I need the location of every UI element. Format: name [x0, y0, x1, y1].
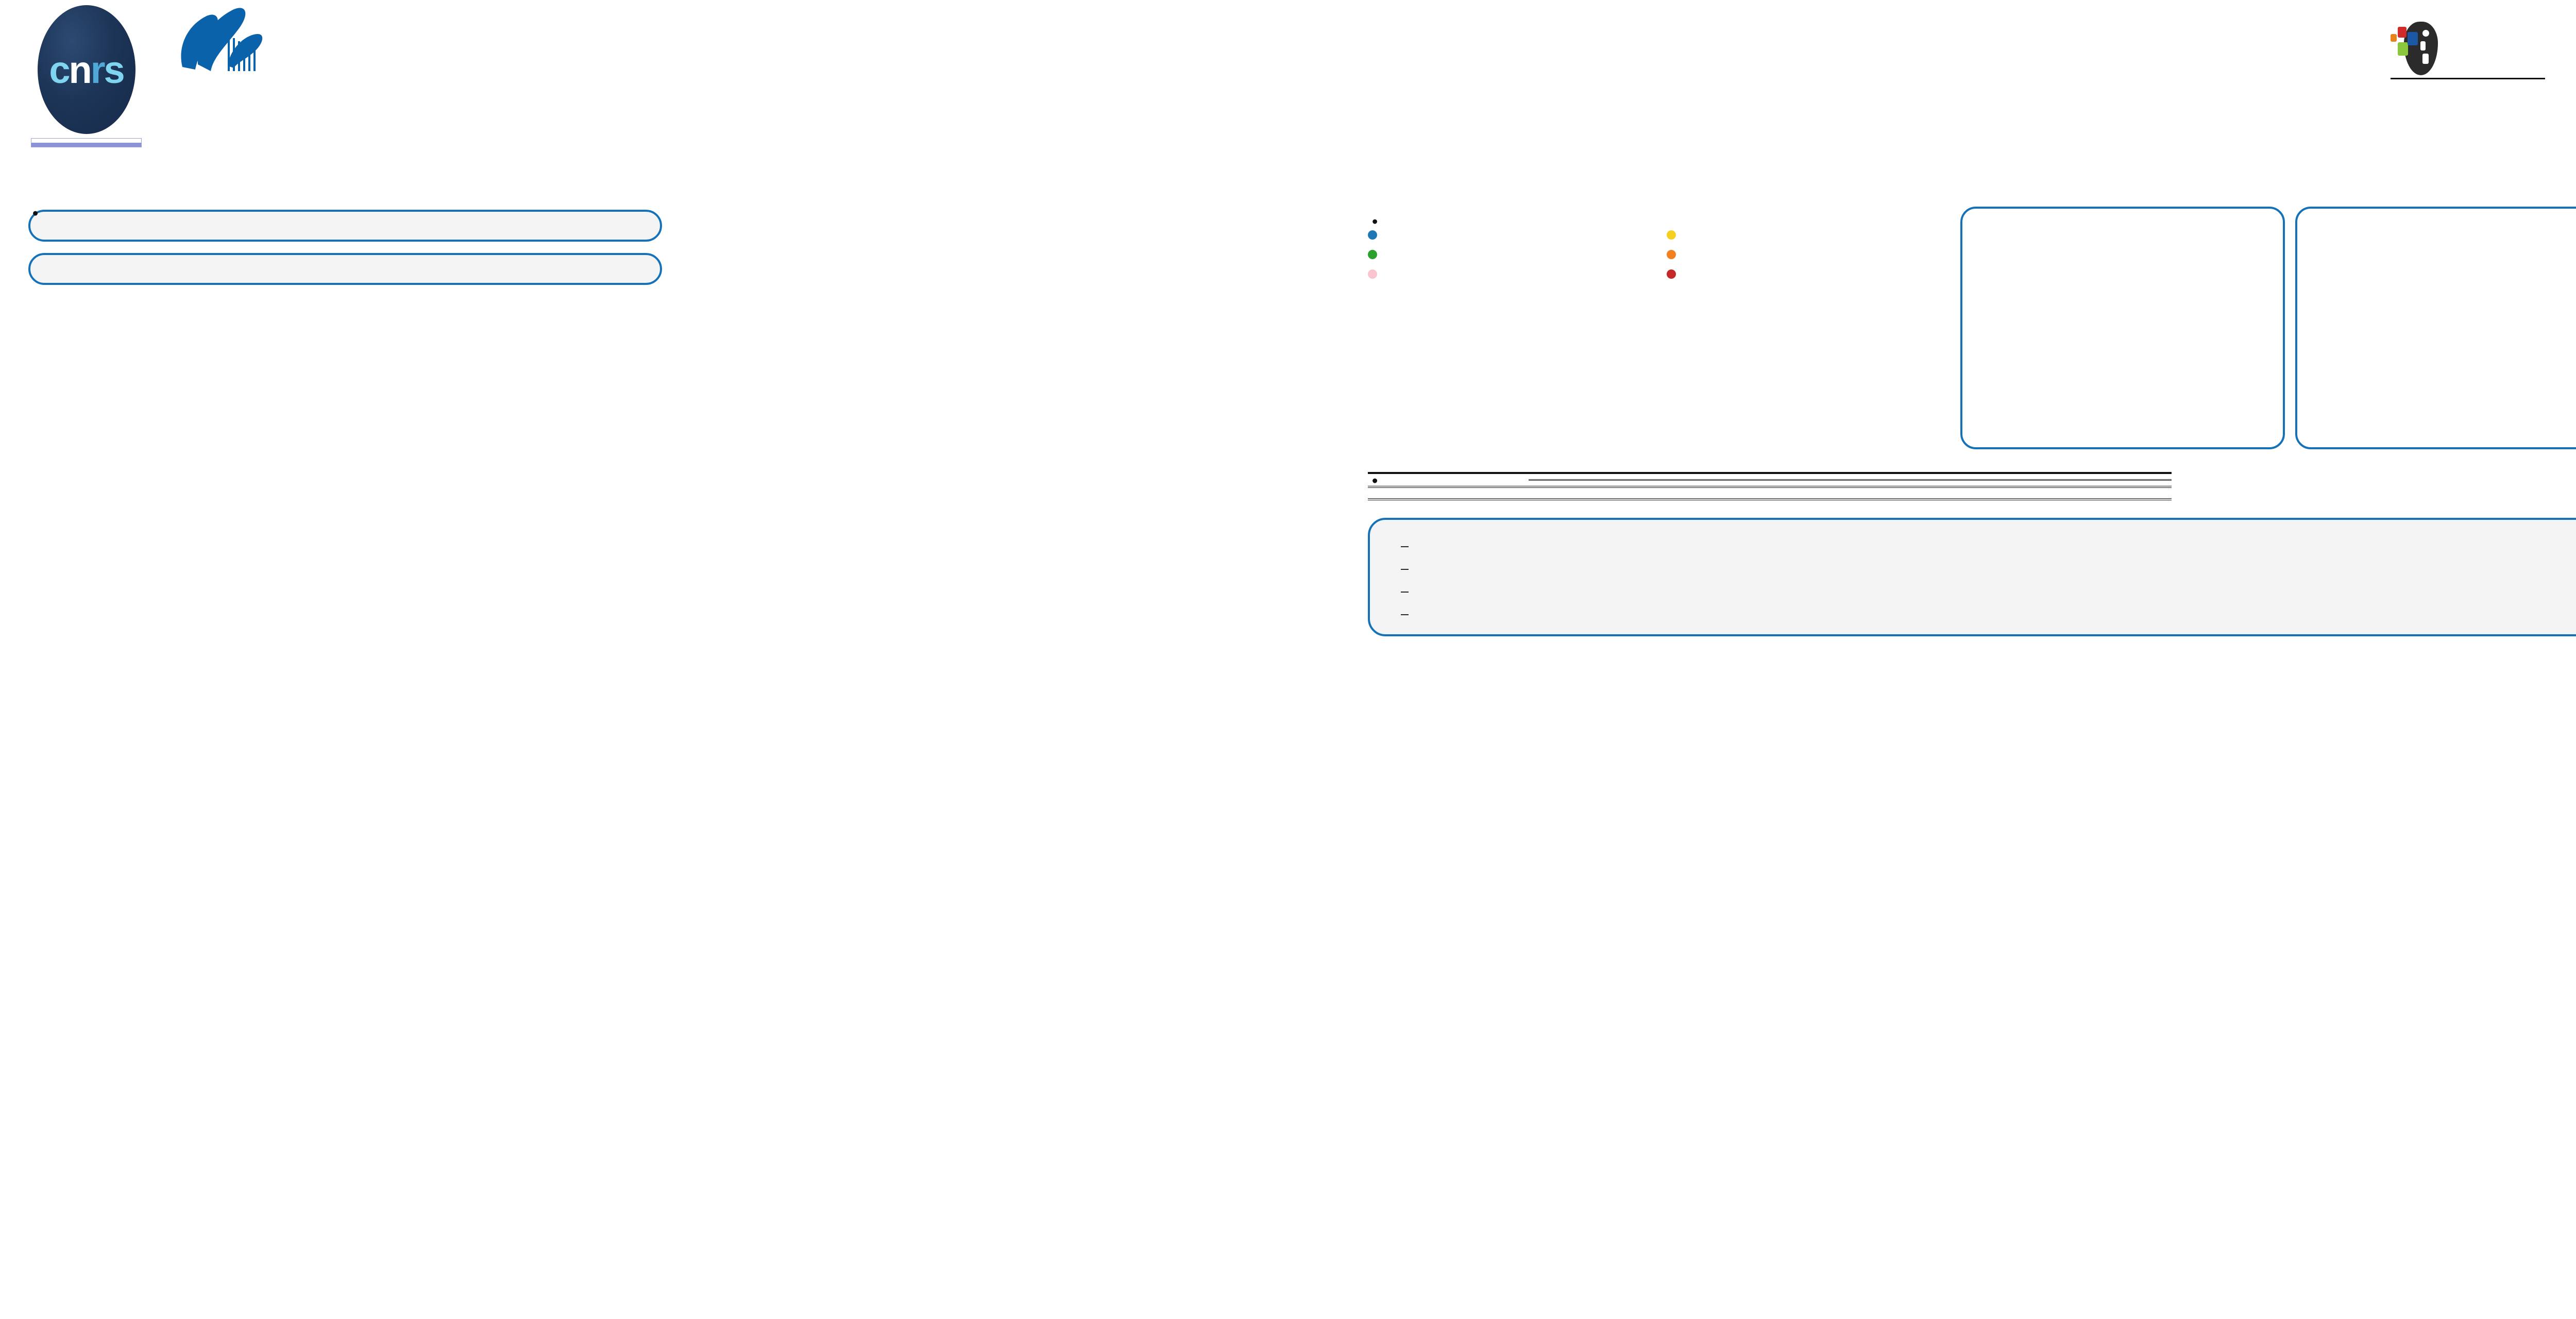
chart-discretization-initialization-truncation [2303, 218, 2576, 439]
ode-discretization-group [1667, 220, 1945, 285]
conclusion-item: – [1401, 557, 2576, 580]
cell-value [2043, 487, 2172, 493]
col-header-fid-learned [2043, 480, 2172, 487]
cnrs-wordmark: cnrs [49, 48, 123, 92]
proposition-1-box [28, 210, 662, 242]
col-header-w2emp [1657, 480, 1786, 487]
col-header-w2emp-learned [1914, 480, 2043, 487]
legend-item-ddpm [1368, 265, 1646, 279]
left-logos: cnrs [31, 5, 329, 147]
cell-value [1914, 493, 2043, 499]
column-right: – – – – [1368, 198, 2576, 646]
legend-item-em [1368, 226, 1646, 240]
cell-value [1786, 487, 1914, 493]
column-middle [698, 198, 1352, 209]
denis-poisson-label [31, 143, 141, 147]
cell-value [1657, 487, 1786, 493]
legend-item-ei [1368, 246, 1646, 259]
col-header-fid [1786, 480, 1914, 487]
conclusion-item: – [1401, 602, 2576, 625]
proposition-2-box [28, 253, 662, 285]
table-row [1368, 493, 2172, 499]
table-row [1368, 487, 2172, 493]
chart-2-box [2295, 207, 2576, 449]
discretization-legend [1368, 220, 1950, 285]
institut-denis-poisson-logo [31, 138, 142, 147]
col-header-w2 [1529, 480, 1657, 487]
icml-logo [2391, 19, 2576, 82]
chart-discretization-initialization [1969, 218, 2278, 439]
cnrs-logo: cnrs [31, 5, 142, 147]
cell-value [1914, 487, 2043, 493]
qr-code-icon[interactable] [2231, 15, 2349, 134]
title-block [412, 11, 1803, 24]
col-header-p [1368, 480, 1529, 487]
generated-samples-panel [2197, 472, 2576, 476]
universite-orleans-logo [159, 5, 329, 82]
univ-brush-icon [167, 5, 321, 82]
sde-discretization-group [1368, 220, 1646, 285]
column-left [28, 198, 662, 285]
cell-value [1529, 493, 1657, 499]
legend-item-euler [1667, 226, 1945, 240]
table-group-row [1368, 473, 2172, 480]
table-header-row [1368, 480, 2172, 487]
chart-1-box [1960, 207, 2285, 449]
cell-method [1368, 493, 1529, 499]
legend-item-heun [1667, 246, 1945, 259]
poster-root: cnrs [0, 0, 2576, 1319]
cell-method [1368, 487, 1529, 493]
table-group-learned [1914, 473, 2172, 480]
table-group-exact [1529, 473, 1914, 480]
poster-header: cnrs [0, 0, 2576, 185]
icml-mark-icon [2391, 19, 2440, 75]
results-table [1368, 472, 2172, 500]
conclusion-item: – [1401, 534, 2576, 557]
author-list [412, 19, 1803, 24]
conclusion-item: – [1401, 580, 2576, 602]
wasserstein-section [1368, 207, 2576, 449]
cell-value [1657, 493, 1786, 499]
cell-value [1529, 487, 1657, 493]
conclusion-box: – – – – [1368, 518, 2576, 636]
legend-item-rk4 [1667, 265, 1945, 279]
cell-value [1786, 493, 1914, 499]
cnrs-oval-icon: cnrs [38, 5, 135, 134]
cell-value [2043, 493, 2172, 499]
